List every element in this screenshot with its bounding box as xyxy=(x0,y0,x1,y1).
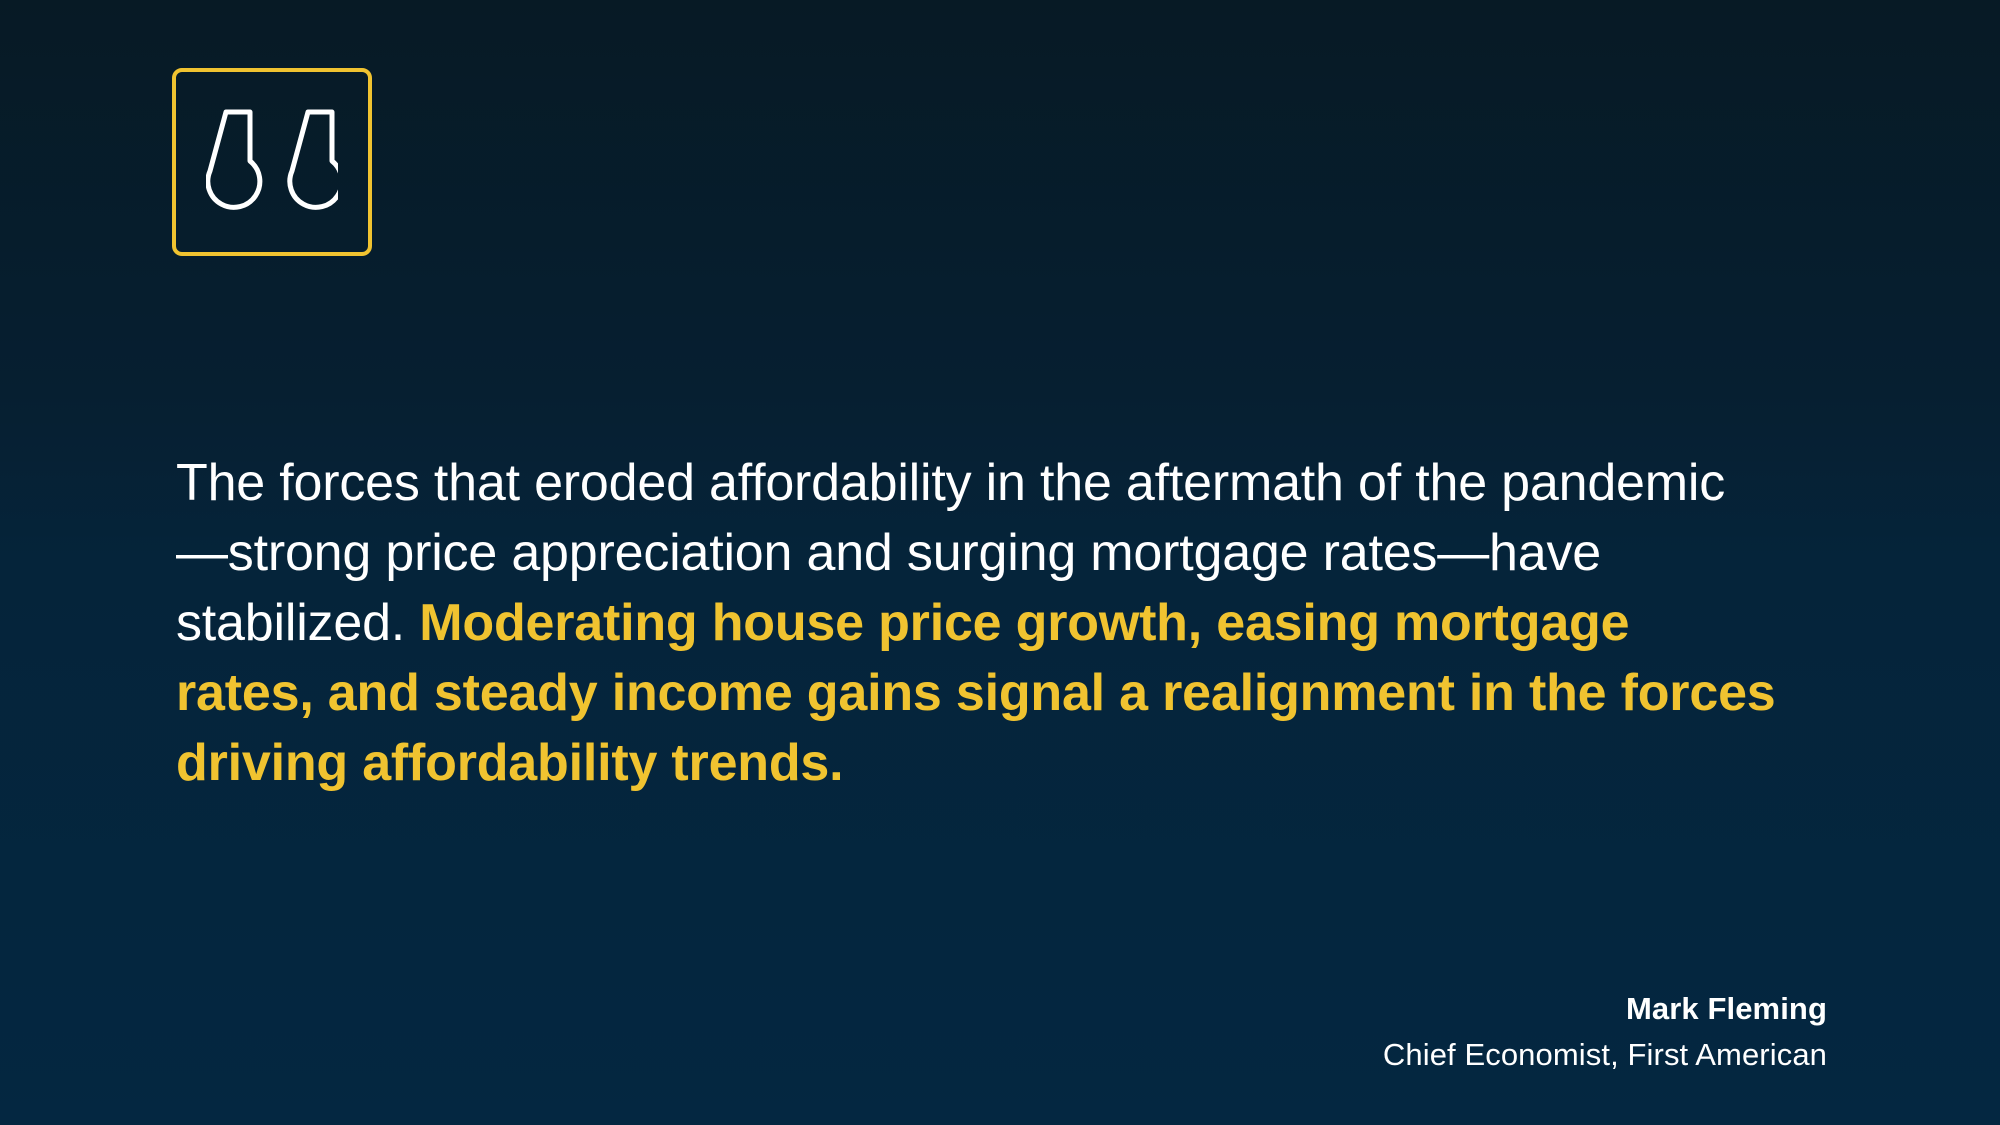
quote-block: The forces that eroded affordability in … xyxy=(176,448,1776,798)
quote-text: The forces that eroded affordability in … xyxy=(176,448,1776,798)
quote-badge xyxy=(172,68,372,256)
attribution-name: Mark Fleming xyxy=(1383,986,1827,1032)
attribution-role: Chief Economist, First American xyxy=(1383,1032,1827,1078)
quote-slide: The forces that eroded affordability in … xyxy=(0,0,2000,1125)
double-quotation-mark-icon xyxy=(206,107,338,217)
attribution: Mark Fleming Chief Economist, First Amer… xyxy=(1383,986,1827,1078)
